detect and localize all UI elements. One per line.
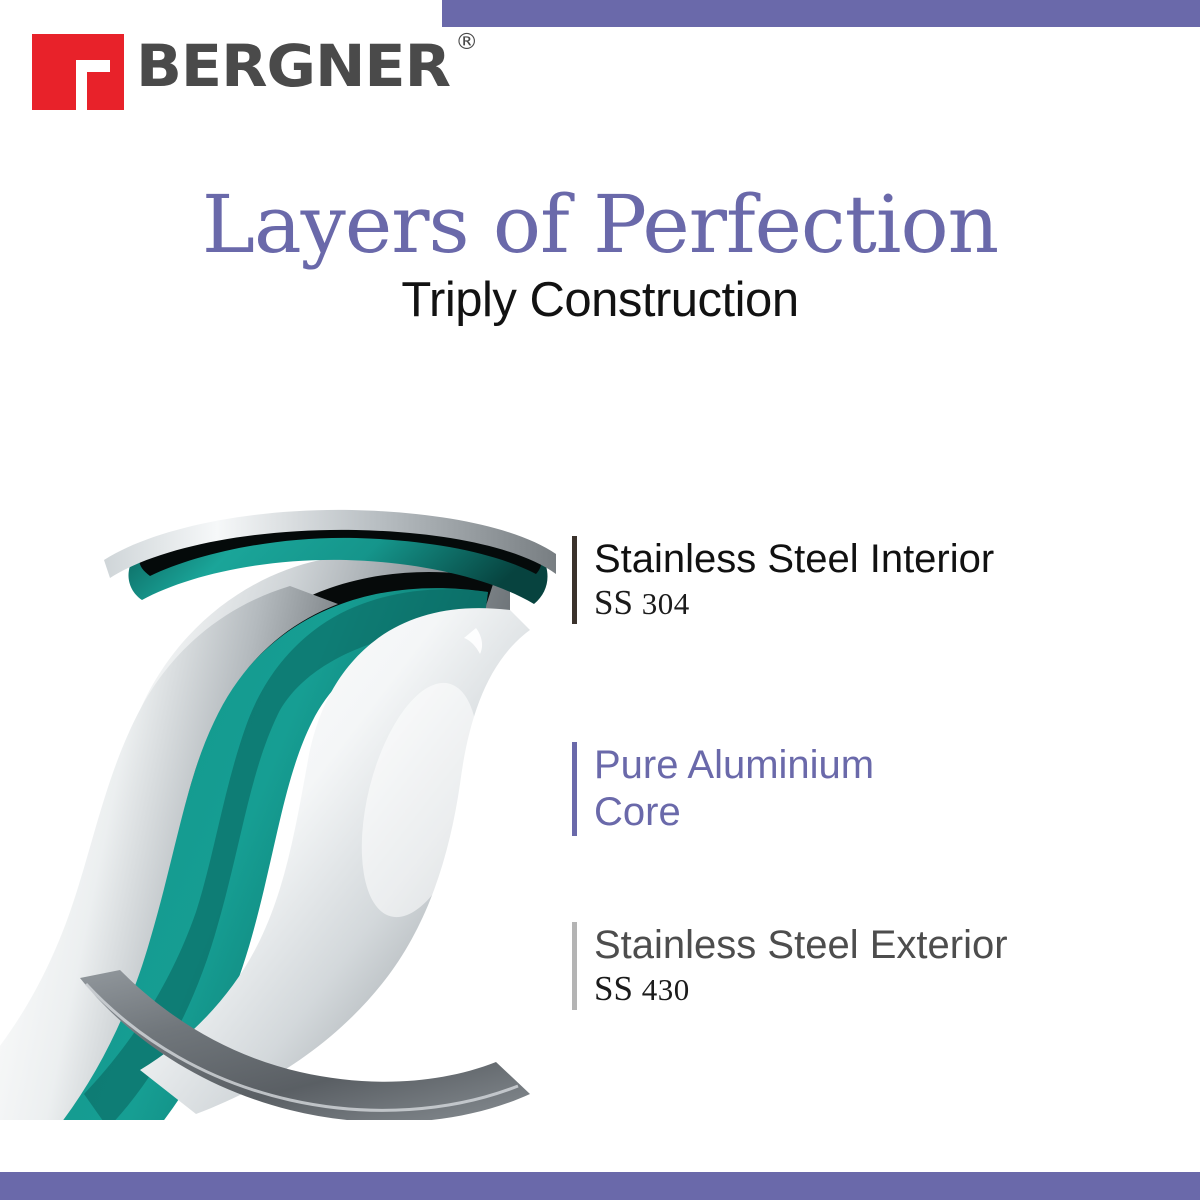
callout-grade-0: SS 304 [594,583,994,624]
callout-pure-aluminium-core: Pure Aluminium Core [572,742,874,836]
callout-grade-number-2: 430 [642,972,690,1007]
callout-rule-2 [572,922,577,1010]
callout-grade-2: SS 430 [594,969,1008,1010]
brand-wordmark: BERGNER ® [136,34,450,98]
infographic-canvas: BERGNER ® Layers of Perfection Triply Co… [0,0,1200,1200]
callout-text-1: Pure Aluminium Core [594,742,874,836]
callout-stainless-steel-interior: Stainless Steel Interior SS 304 [572,536,994,624]
page-subtitle: Triply Construction [0,272,1200,328]
brand-name-text: BERGNER [136,32,450,100]
callout-title-2: Stainless Steel Exterior [594,922,1008,969]
bergner-mark-icon [32,34,124,110]
callout-title-line2-1: Core [594,789,874,836]
callout-title-1: Pure Aluminium [594,742,874,789]
callout-rule-1 [572,742,577,836]
callout-grade-prefix-2: SS [594,969,633,1008]
callout-grade-prefix-0: SS [594,583,633,622]
logo-notch-shape [76,60,90,74]
callout-title-0: Stainless Steel Interior [594,536,994,583]
top-accent-bar [442,0,1200,27]
callout-stainless-steel-exterior: Stainless Steel Exterior SS 430 [572,922,1008,1010]
callout-text-2: Stainless Steel Exterior SS 430 [594,922,1008,1010]
bottom-accent-bar [0,1172,1200,1200]
registered-trademark-icon: ® [455,32,477,54]
callout-grade-number-0: 304 [642,586,690,621]
brand-logo: BERGNER ® [32,34,438,110]
cookware-cross-section-illustration [0,500,560,1120]
page-title: Layers of Perfection [0,182,1200,268]
callout-text-0: Stainless Steel Interior SS 304 [594,536,994,624]
callout-rule-0 [572,536,577,624]
